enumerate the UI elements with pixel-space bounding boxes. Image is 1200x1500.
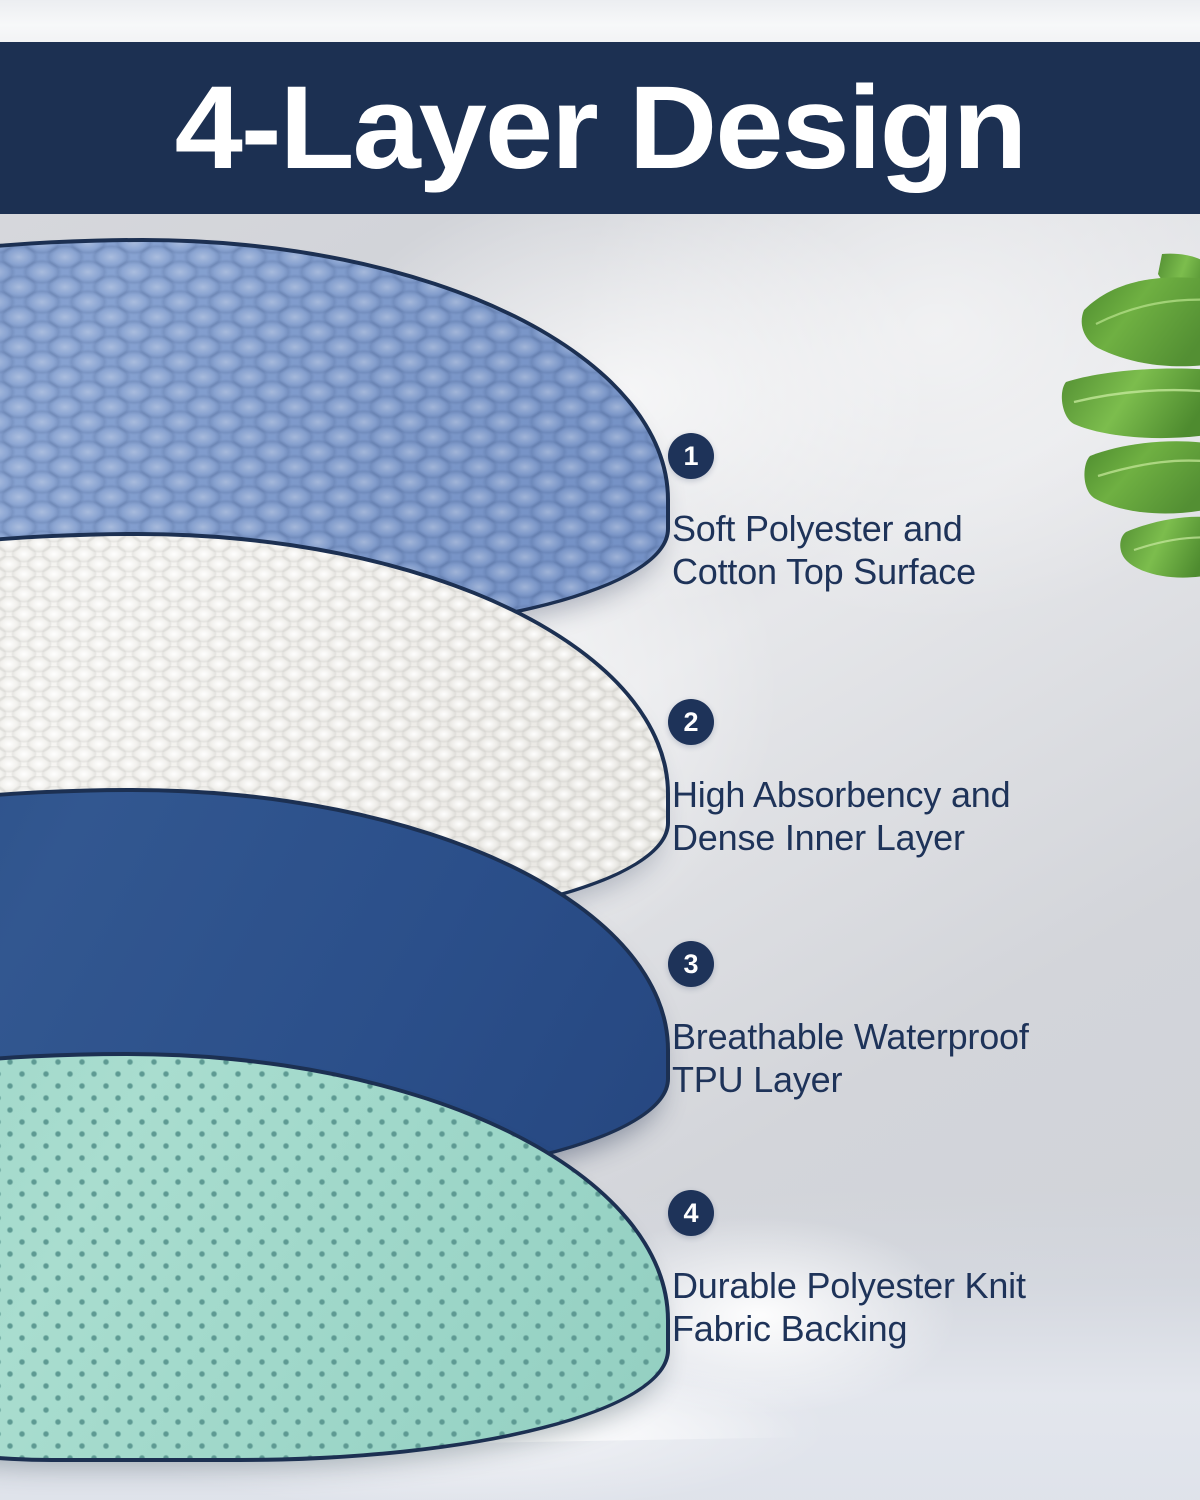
callout-layer-2: 2 High Absorbency and Dense Inner Layer — [668, 699, 1168, 859]
callout-label-3: Breathable Waterproof TPU Layer — [672, 1015, 1168, 1101]
callout-label-2: High Absorbency and Dense Inner Layer — [672, 773, 1168, 859]
badge-number-3: 3 — [668, 941, 714, 987]
page-title: 4-Layer Design — [175, 69, 1026, 187]
callout-layer-3: 3 Breathable Waterproof TPU Layer — [668, 941, 1168, 1101]
badge-number-2: 2 — [668, 699, 714, 745]
callout-label-1: Soft Polyester and Cotton Top Surface — [672, 507, 1168, 593]
badge-number-4: 4 — [668, 1190, 714, 1236]
infographic-page: 4-Layer Design — [0, 0, 1200, 1500]
callout-layer-1: 1 Soft Polyester and Cotton Top Surface — [668, 433, 1168, 593]
top-strip — [0, 0, 1200, 42]
callout-label-4: Durable Polyester Knit Fabric Backing — [672, 1264, 1168, 1350]
badge-number-1: 1 — [668, 433, 714, 479]
callout-layer-4: 4 Durable Polyester Knit Fabric Backing — [668, 1190, 1168, 1350]
header-banner: 4-Layer Design — [0, 42, 1200, 214]
